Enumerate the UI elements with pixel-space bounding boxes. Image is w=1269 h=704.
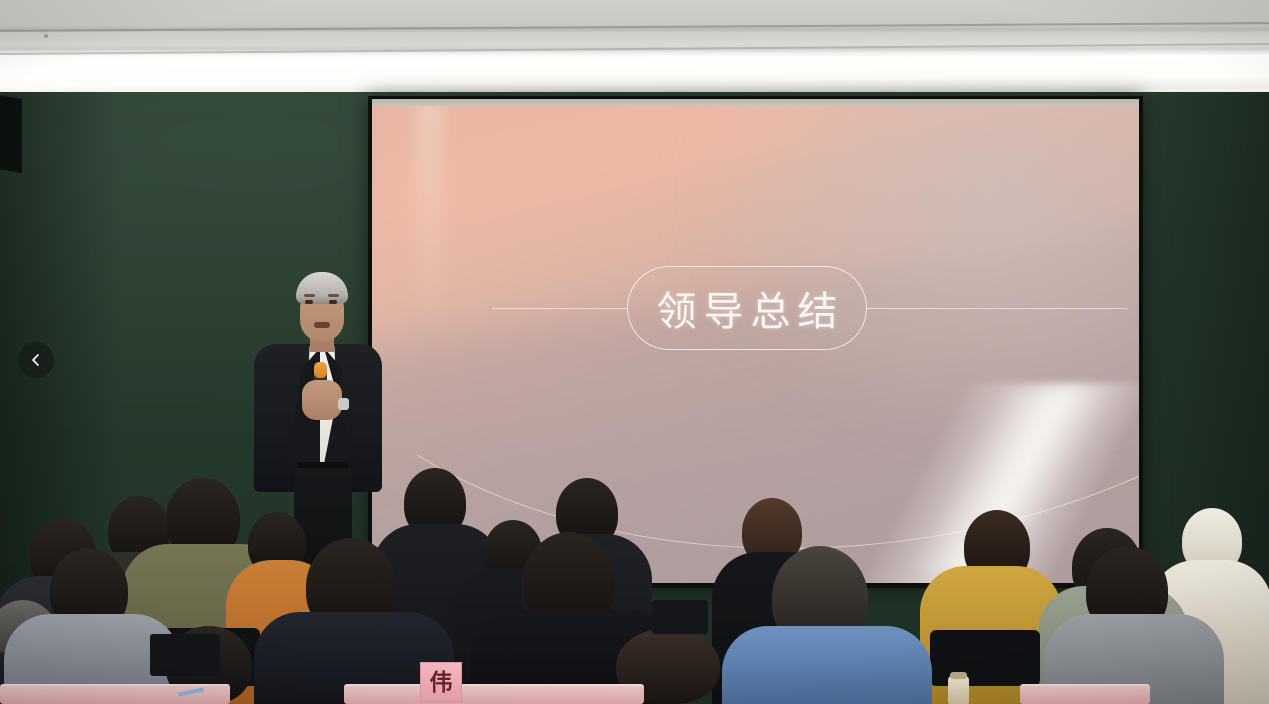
- presentation-photo-stage: 领导总结: [0, 0, 1269, 704]
- chair-back: [930, 630, 1040, 686]
- laptop: [652, 600, 708, 634]
- desk-segment: [1020, 684, 1150, 704]
- name-card: 伟: [420, 662, 462, 702]
- previous-photo-button[interactable]: [18, 342, 54, 378]
- desk-segment: [0, 684, 230, 704]
- chevron-left-icon: [28, 352, 44, 368]
- audience: 伟: [0, 0, 1269, 704]
- desk-segment: [344, 684, 644, 704]
- name-card-text: 伟: [430, 671, 453, 694]
- water-bottle-cap: [950, 672, 967, 679]
- laptop: [150, 634, 220, 676]
- water-bottle: [948, 676, 969, 704]
